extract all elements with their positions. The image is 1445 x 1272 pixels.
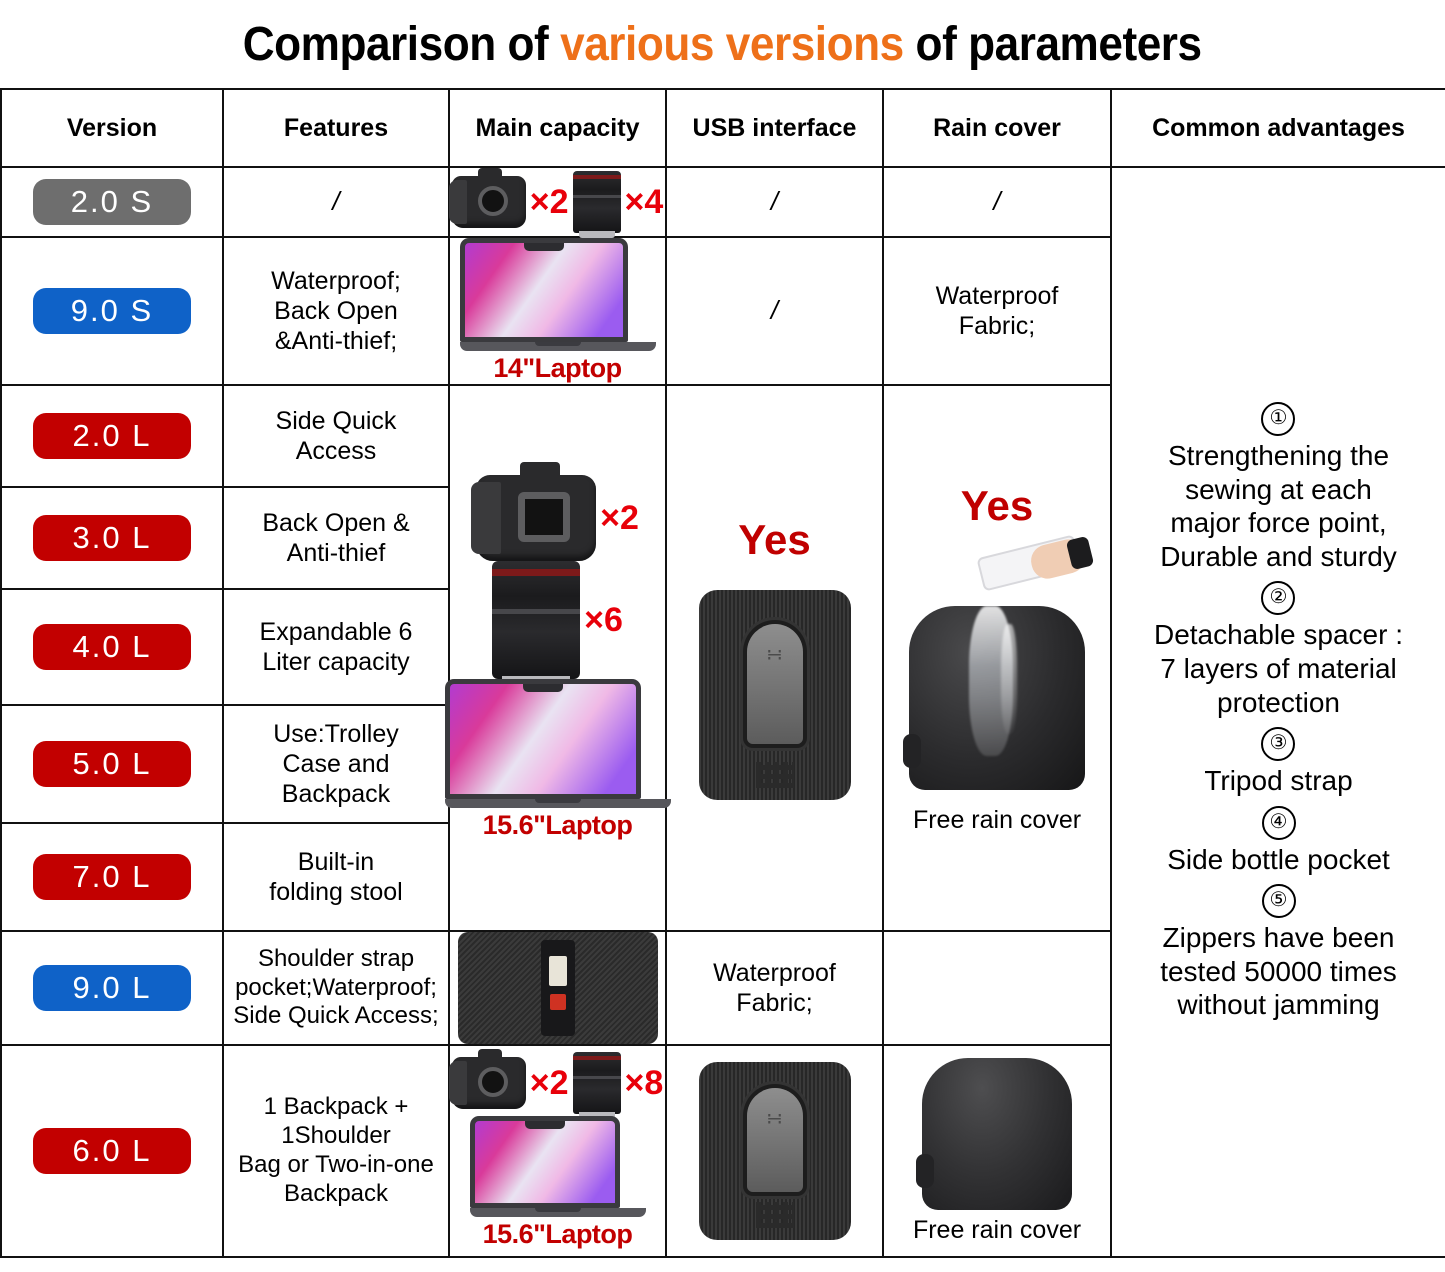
raincover-photo [909, 606, 1085, 790]
version-badge[interactable]: 2.0 S [33, 179, 191, 226]
laptop-size-label: 15.6"Laptop [450, 1219, 665, 1250]
advantage-text: Strengthening the sewing at each major f… [1160, 439, 1397, 573]
usb-port-photo [458, 932, 658, 1044]
version-badge[interactable]: 5.0 L [33, 741, 191, 788]
capacity-cell: ×2 ×8 15.6"Laptop [449, 1045, 666, 1257]
usb-cell: / [666, 237, 883, 385]
version-badge[interactable]: 3.0 L [33, 515, 191, 562]
version-badge[interactable]: 9.0 L [33, 965, 191, 1012]
column-header-capacity: Main capacity [449, 89, 666, 167]
table-header-row: Version Features Main capacity USB inter… [1, 89, 1445, 167]
capacity-cell-merged: ×2 ×6 15.6"Laptop [449, 385, 666, 931]
lens-group: ×6 [492, 561, 623, 679]
advantage-item: ④ Side bottle pocket [1167, 806, 1390, 877]
usb-port-photo: ∺ [699, 590, 851, 800]
column-header-features: Features [223, 89, 449, 167]
column-header-usb: USB interface [666, 89, 883, 167]
laptop-size-label: 15.6"Laptop [445, 810, 671, 841]
raincover-caption: Free rain cover [913, 800, 1081, 835]
version-badge[interactable]: 7.0 L [33, 854, 191, 901]
version-cell: 4.0 L [1, 589, 223, 705]
version-cell: 9.0 L [1, 931, 223, 1045]
features-cell: / [223, 167, 449, 237]
laptop-icon [470, 1116, 646, 1217]
features-cell: Built-in folding stool [223, 823, 449, 931]
advantage-item: ② Detachable spacer : 7 layers of materi… [1154, 581, 1403, 719]
advantage-number: ③ [1261, 727, 1295, 761]
usb-cell-merged: Yes ∺ [666, 385, 883, 931]
advantage-number: ⑤ [1262, 884, 1296, 918]
lens-icon [573, 171, 621, 233]
features-cell: 1 Backpack + 1Shoulder Bag or Two-in-one… [223, 1045, 449, 1257]
column-header-advantages: Common advantages [1111, 89, 1445, 167]
advantage-text: Side bottle pocket [1167, 843, 1390, 877]
lens-icon [573, 1052, 621, 1114]
version-cell: 3.0 L [1, 487, 223, 589]
usb-cell: / [666, 167, 883, 237]
advantage-number: ④ [1262, 806, 1296, 840]
title-highlight: various versions [560, 18, 904, 71]
advantage-item: ① Strengthening the sewing at each major… [1160, 402, 1397, 573]
version-cell: 2.0 S [1, 167, 223, 237]
usb-cell [449, 931, 666, 1045]
laptop-icon [460, 238, 656, 351]
column-header-version: Version [1, 89, 223, 167]
version-cell: 6.0 L [1, 1045, 223, 1257]
advantage-text: Detachable spacer : 7 layers of material… [1154, 618, 1403, 719]
advantage-item: ③ Tripod strap [1204, 727, 1352, 798]
title-prefix: Comparison of [243, 18, 560, 71]
version-cell: 9.0 S [1, 237, 223, 385]
raincover-yes-label: Yes [961, 482, 1033, 530]
raincover-cell: Free rain cover [883, 1045, 1111, 1257]
camera-icon [452, 1057, 526, 1109]
raincover-cell: Waterproof Fabric; [666, 931, 883, 1045]
camera-multiplier: ×2 [530, 1064, 569, 1103]
lens-icon [492, 561, 580, 679]
features-cell: Use:Trolley Case and Backpack [223, 705, 449, 823]
lens-multiplier: ×6 [584, 601, 623, 640]
features-cell: Expandable 6 Liter capacity [223, 589, 449, 705]
lens-multiplier: ×4 [625, 183, 664, 222]
comparison-table: Version Features Main capacity USB inter… [0, 88, 1445, 1258]
title-bar: Comparison of various versions of parame… [0, 0, 1445, 88]
water-pour-illustration [909, 540, 1085, 596]
title-suffix: of parameters [904, 18, 1202, 71]
version-badge[interactable]: 6.0 L [33, 1128, 191, 1175]
raincover-caption: Free rain cover [884, 1210, 1110, 1245]
version-badge[interactable]: 4.0 L [33, 624, 191, 671]
page-title: Comparison of various versions of parame… [243, 17, 1202, 72]
raincover-cell-merged: Yes Free rain cover [883, 385, 1111, 931]
version-badge[interactable]: 9.0 S [33, 288, 191, 335]
advantage-text: Zippers have been tested 50000 times wit… [1160, 921, 1397, 1022]
features-cell: Back Open & Anti-thief [223, 487, 449, 589]
advantages-cell: ① Strengthening the sewing at each major… [1111, 167, 1445, 1257]
camera-multiplier: ×2 [530, 183, 569, 222]
raincover-photo [922, 1058, 1072, 1210]
features-cell: Side Quick Access [223, 385, 449, 487]
usb-port-photo: ∺ [699, 1062, 851, 1240]
usb-icon: ∺ [766, 642, 783, 667]
capacity-cell: 14"Laptop [449, 237, 666, 385]
laptop-size-label: 14"Laptop [450, 353, 665, 384]
usb-yes-label: Yes [738, 516, 810, 564]
lens-multiplier: ×8 [625, 1064, 664, 1103]
raincover-cell: / [883, 167, 1111, 237]
features-cell: Waterproof; Back Open &Anti-thief; [223, 237, 449, 385]
camera-group: ×2 [476, 475, 639, 561]
advantage-number: ① [1261, 402, 1295, 436]
advantage-number: ② [1261, 581, 1295, 615]
features-cell: Shoulder strap pocket;Waterproof; Side Q… [223, 931, 449, 1045]
laptop-icon [445, 679, 671, 808]
usb-cell: ∺ [666, 1045, 883, 1257]
camera-icon [452, 176, 526, 228]
usb-icon: ∺ [766, 1106, 783, 1131]
laptop-group: 15.6"Laptop [445, 679, 671, 841]
capacity-cell: ×2 ×4 [449, 167, 666, 237]
version-cell: 5.0 L [1, 705, 223, 823]
table-row: 2.0 S / ×2 ×4 / / [1, 167, 1445, 237]
raincover-cell: Waterproof Fabric; [883, 237, 1111, 385]
advantage-text: Tripod strap [1204, 764, 1352, 798]
advantage-item: ⑤ Zippers have been tested 50000 times w… [1160, 884, 1397, 1022]
version-badge[interactable]: 2.0 L [33, 413, 191, 460]
camera-icon [476, 475, 596, 561]
version-cell: 2.0 L [1, 385, 223, 487]
column-header-raincover: Rain cover [883, 89, 1111, 167]
camera-multiplier: ×2 [600, 499, 639, 538]
version-cell: 7.0 L [1, 823, 223, 931]
